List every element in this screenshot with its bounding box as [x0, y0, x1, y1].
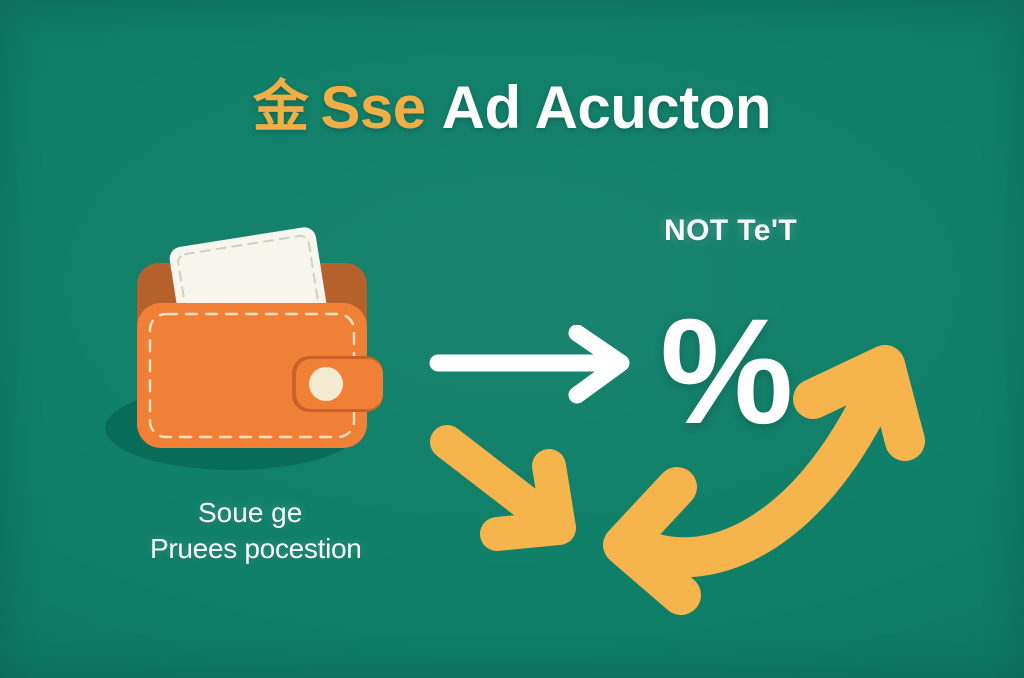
caption-top-right: NOT Te'T: [664, 214, 904, 248]
caption-wallet: Soue ge Pruees pocestion: [150, 495, 460, 568]
title-white-text: Ad Acucton: [442, 74, 771, 141]
percent-symbol: %: [660, 296, 793, 446]
arrow-shaft: [447, 442, 543, 516]
infographic-canvas: 金SseAd Acucton: [0, 0, 1024, 678]
wallet-illustration: [95, 215, 425, 480]
caption-wallet-line-2: Pruees pocestion: [150, 531, 460, 567]
wallet-clasp-button: [309, 367, 343, 401]
page-title: 金SseAd Acucton: [0, 78, 1024, 138]
caption-wallet-line-1: Soue ge: [150, 495, 460, 531]
title-cjk-glyph: 金: [253, 75, 309, 140]
title-gold-text: Sse: [320, 74, 425, 141]
